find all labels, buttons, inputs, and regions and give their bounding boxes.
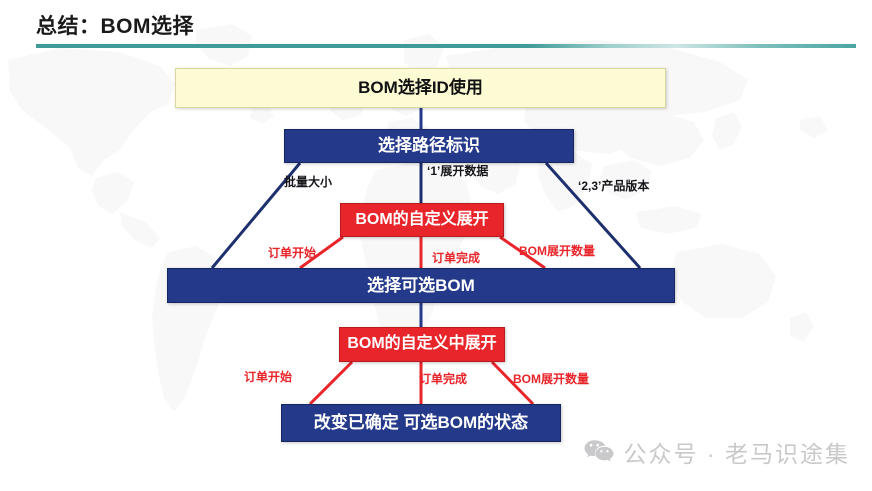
node-label: 选择路径标识: [378, 136, 480, 156]
node-change-confirmed-bom-status[interactable]: 改变已确定 可选BOM的状态: [281, 404, 561, 442]
wechat-icon: [584, 439, 614, 465]
node-bom-selection-id-usage[interactable]: BOM选择ID使用: [175, 68, 666, 108]
bom-selection-flow-diagram: BOM选择ID使用 选择路径标识 BOM的自定义展开 选择可选BOM BOM的自…: [0, 0, 872, 491]
slide-canvas: 总结：BOM选择: [0, 0, 872, 491]
node-label: 改变已确定 可选BOM的状态: [314, 413, 528, 433]
node-label: BOM选择ID使用: [358, 78, 483, 98]
node-bom-custom-mid-expand[interactable]: BOM的自定义中展开: [339, 327, 505, 362]
edge-label-bom-expand-qty-lower: BOM展开数量: [513, 373, 589, 385]
node-bom-custom-expand[interactable]: BOM的自定义展开: [340, 203, 504, 237]
edge-label-order-complete-lower: 订单完成: [419, 373, 467, 385]
edge-label-product-version-23: ‘2,3’产品版本: [578, 180, 649, 192]
edge-label-batch-size: 批量大小: [284, 176, 332, 188]
edge-label-order-start-lower: 订单开始: [244, 371, 292, 383]
edge-label-order-complete-upper: 订单完成: [432, 252, 480, 264]
edge-label-bom-expand-qty-upper: BOM展开数量: [519, 245, 595, 257]
edge-label-order-start-upper: 订单开始: [268, 247, 316, 259]
node-label: BOM的自定义展开: [355, 211, 488, 229]
edge-label-expand-data-1: ‘1’展开数据: [427, 165, 488, 177]
node-label: BOM的自定义中展开: [347, 335, 496, 353]
watermark-text: 公众号 · 老马识途集: [624, 435, 850, 469]
wechat-watermark: 公众号 · 老马识途集: [584, 435, 850, 469]
node-select-optional-bom[interactable]: 选择可选BOM: [167, 268, 675, 303]
node-select-path-id[interactable]: 选择路径标识: [284, 129, 574, 163]
node-label: 选择可选BOM: [367, 276, 475, 296]
